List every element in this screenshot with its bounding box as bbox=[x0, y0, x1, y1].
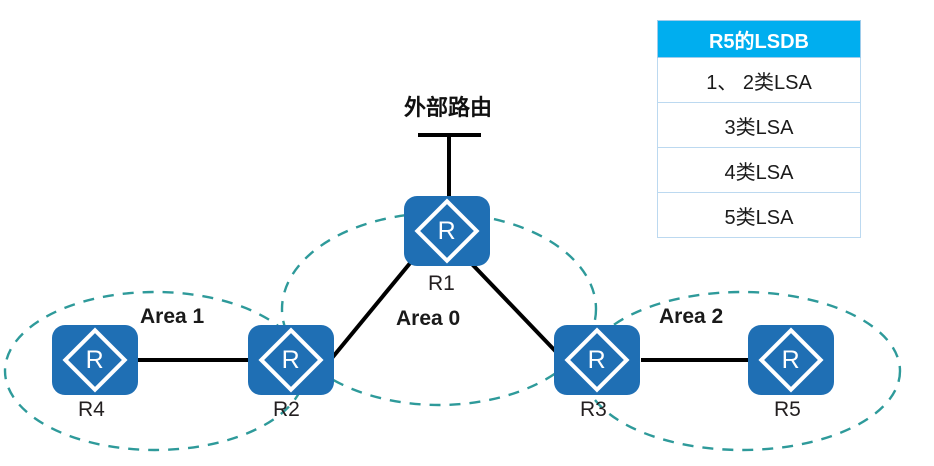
router-icon: R bbox=[52, 325, 138, 395]
router-diamond-icon: R bbox=[564, 327, 629, 392]
area-label-area-2: Area 2 bbox=[659, 305, 723, 329]
router-node-r4[interactable]: R bbox=[52, 325, 138, 395]
lsdb-table: R5的LSDB 1、 2类LSA 3类LSA 4类LSA 5类LSA bbox=[657, 20, 861, 238]
router-icon: R bbox=[554, 325, 640, 395]
lsdb-table-row: 3类LSA bbox=[657, 103, 861, 148]
lsdb-table-header: R5的LSDB bbox=[657, 20, 861, 58]
router-diamond-icon: R bbox=[414, 198, 479, 263]
router-label-r3: R3 bbox=[580, 398, 607, 422]
router-icon: R bbox=[248, 325, 334, 395]
router-node-r5[interactable]: R bbox=[748, 325, 834, 395]
router-node-r1[interactable]: R bbox=[404, 196, 490, 266]
router-node-r2[interactable]: R bbox=[248, 325, 334, 395]
router-diamond-icon: R bbox=[758, 327, 823, 392]
lsdb-table-row: 5类LSA bbox=[657, 193, 861, 238]
area-label-area-1: Area 1 bbox=[140, 305, 204, 329]
router-glyph-letter: R bbox=[86, 348, 104, 373]
router-icon: R bbox=[748, 325, 834, 395]
diagram-canvas: 外部路由 R R1 R R2 R R3 R R4 bbox=[0, 0, 934, 466]
router-diamond-icon: R bbox=[258, 327, 323, 392]
area-label-area-0: Area 0 bbox=[396, 307, 460, 331]
link-r1-r3 bbox=[470, 262, 562, 358]
router-node-r3[interactable]: R bbox=[554, 325, 640, 395]
router-glyph-letter: R bbox=[282, 348, 300, 373]
lsdb-table-row: 1、 2类LSA bbox=[657, 58, 861, 103]
external-route-label: 外部路由 bbox=[404, 90, 492, 122]
router-diamond-icon: R bbox=[62, 327, 127, 392]
router-glyph-letter: R bbox=[588, 348, 606, 373]
router-label-r4: R4 bbox=[78, 398, 105, 422]
router-glyph-letter: R bbox=[438, 219, 456, 244]
router-glyph-letter: R bbox=[782, 348, 800, 373]
router-label-r2: R2 bbox=[273, 398, 300, 422]
router-icon: R bbox=[404, 196, 490, 266]
lsdb-table-row: 4类LSA bbox=[657, 148, 861, 193]
router-label-r5: R5 bbox=[774, 398, 801, 422]
router-label-r1: R1 bbox=[428, 272, 455, 296]
